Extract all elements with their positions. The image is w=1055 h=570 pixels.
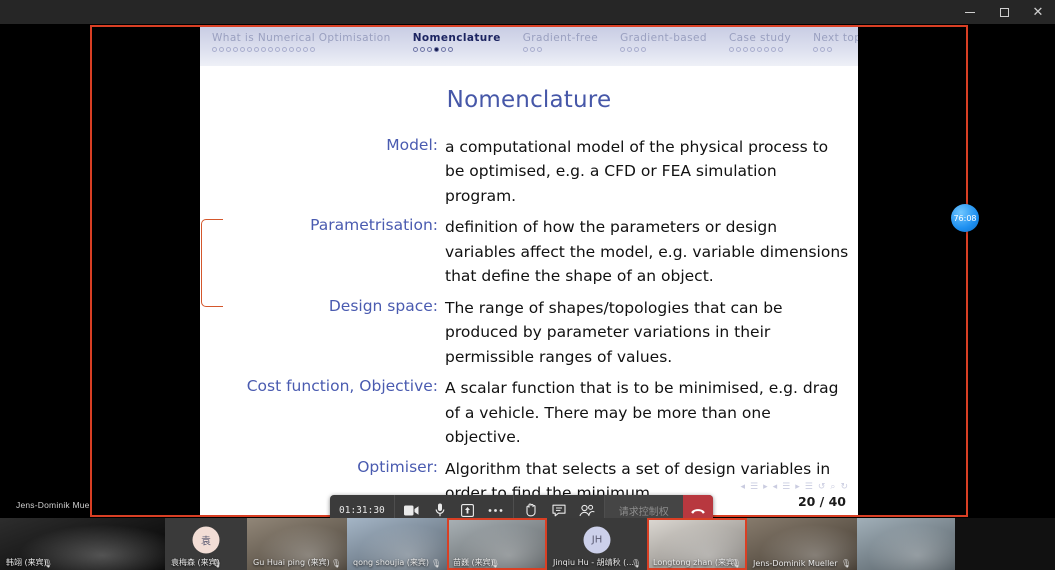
definition-body: The range of shapes/topologies that can …: [445, 296, 850, 369]
participants-button[interactable]: [573, 504, 601, 517]
slide-nav-dot[interactable]: [282, 47, 287, 52]
slide-nav-dot[interactable]: [261, 47, 266, 52]
slide-nav-dot[interactable]: [434, 47, 439, 52]
microphone-muted-icon: 🎙: [631, 559, 641, 568]
definition-term: Parametrisation:: [310, 215, 438, 288]
slide-nav-label: Gradient-based: [620, 32, 707, 44]
participant-tile[interactable]: 苗巍 (来宾)🎙: [447, 518, 547, 570]
slide-nav-dots: [729, 47, 783, 52]
slide-nav-dot[interactable]: [219, 47, 224, 52]
slide-nav-dot[interactable]: [736, 47, 741, 52]
beamer-nav-glyph[interactable]: ⌕: [830, 482, 835, 492]
slide-nav-dot[interactable]: [289, 47, 294, 52]
slide-nav-dot[interactable]: [240, 47, 245, 52]
participant-filmstrip: 韩翊 (来宾)🎙袁袁梅森 (来宾)🎙Gu Huai ping (来宾)🎙qong…: [0, 518, 1055, 570]
slide-nav-dot[interactable]: [523, 47, 528, 52]
participant-name: qong shoujia (来宾): [353, 557, 429, 568]
microphone-icon: [435, 503, 445, 517]
slide-nav-dot[interactable]: [254, 47, 259, 52]
meeting-window: ✕ Jens-Dominik Mueller What is Numerical…: [0, 0, 1055, 570]
slide-nav-section[interactable]: Next topic: [813, 32, 858, 52]
avatar: 袁: [193, 526, 220, 553]
more-options-button[interactable]: [482, 508, 510, 513]
chat-icon: [552, 504, 566, 517]
slide-nav-label: What is Numerical Optimisation: [212, 32, 391, 44]
slide-nav-dot[interactable]: [757, 47, 762, 52]
participant-name: Longtong zhan (来宾): [653, 557, 737, 568]
presentation-slide: What is Numerical OptimisationNomenclatu…: [200, 27, 858, 515]
slide-nav-dots: [212, 47, 315, 52]
slide-nav-dot[interactable]: [296, 47, 301, 52]
beamer-nav-glyph[interactable]: ↺: [818, 482, 826, 492]
shared-screen-stage: Jens-Dominik Mueller What is Numerical O…: [0, 24, 1055, 518]
slide-nav-label: Next topic: [813, 32, 858, 44]
definition-term-column: Cost function, Objective:: [210, 376, 438, 449]
screen-share-border: What is Numerical OptimisationNomenclatu…: [90, 25, 968, 517]
participant-name: Jinqiu Hu - 胡靖秋 (...: [553, 557, 634, 568]
share-screen-icon: [461, 504, 474, 517]
chat-button[interactable]: [545, 504, 573, 517]
slide-section-nav: What is Numerical OptimisationNomenclatu…: [200, 32, 858, 52]
participant-name: Jens-Dominik Mueller: [753, 559, 838, 568]
microphone-muted-icon: 🎙: [212, 559, 222, 568]
beamer-nav-glyph[interactable]: ▸: [763, 482, 768, 492]
slide-nav-dot[interactable]: [743, 47, 748, 52]
close-button[interactable]: ✕: [1021, 0, 1055, 24]
presenter-watermark: Jens-Dominik Mueller: [16, 500, 102, 510]
participant-tile[interactable]: Gu Huai ping (来宾)🎙: [247, 518, 347, 570]
beamer-navigation-icons[interactable]: ◂☰▸◂☰▸☰↺⌕↻: [741, 482, 849, 492]
definition-list: Model:a computational model of the physi…: [200, 135, 858, 506]
slide-nav-dot[interactable]: [813, 47, 818, 52]
floating-timer-badge[interactable]: 76:08: [951, 204, 979, 232]
maximize-button[interactable]: [987, 0, 1021, 24]
slide-nav-dots: [413, 47, 453, 52]
slide-nav-dot[interactable]: [233, 47, 238, 52]
slide-nav-dot[interactable]: [641, 47, 646, 52]
slide-nav-dot[interactable]: [530, 47, 535, 52]
beamer-nav-glyph[interactable]: ↻: [840, 482, 848, 492]
participant-tile[interactable]: [857, 518, 955, 570]
beamer-nav-glyph[interactable]: ▸: [795, 482, 800, 492]
slide-nav-dot[interactable]: [448, 47, 453, 52]
hand-icon: [525, 503, 537, 517]
definition-body: definition of how the parameters or desi…: [445, 215, 850, 288]
slide-nav-section[interactable]: Nomenclature: [413, 32, 501, 52]
participants-icon: [579, 504, 595, 517]
slide-nav-dots: [813, 47, 832, 52]
microphone-muted-icon: 🎙: [331, 559, 341, 568]
page-indicator: 20 / 40: [798, 494, 846, 509]
camera-icon: [404, 505, 419, 516]
ellipsis-icon: [488, 508, 503, 513]
slide-nav-dot[interactable]: [537, 47, 542, 52]
microphone-muted-icon: 🎙: [42, 559, 52, 568]
slide-nav-dot[interactable]: [620, 47, 625, 52]
slide-navbar: What is Numerical OptimisationNomenclatu…: [200, 27, 858, 67]
slide-title: Nomenclature: [200, 87, 858, 113]
participant-name: Gu Huai ping (来宾): [253, 557, 330, 568]
participant-tile[interactable]: Jens-Dominik Mueller🎙: [747, 518, 857, 570]
slide-nav-dot[interactable]: [420, 47, 425, 52]
beamer-nav-glyph[interactable]: ☰: [750, 482, 758, 492]
definition-term: Cost function, Objective:: [247, 376, 438, 449]
participant-name: 苗巍 (来宾): [453, 557, 494, 568]
microphone-muted-icon: 🎙: [489, 559, 499, 568]
participant-tile[interactable]: qong shoujia (来宾)🎙: [347, 518, 447, 570]
close-icon: ✕: [1033, 6, 1044, 19]
microphone-muted-icon: 🎙: [731, 559, 741, 568]
microphone-muted-icon: 🎙: [841, 559, 851, 568]
slide-nav-dot[interactable]: [226, 47, 231, 52]
participant-tile[interactable]: JHJinqiu Hu - 胡靖秋 (...🎙: [547, 518, 647, 570]
slide-nav-section[interactable]: Case study: [729, 32, 791, 52]
raise-hand-button[interactable]: [517, 503, 545, 517]
definition-term: Model:: [386, 135, 438, 208]
maximize-icon: [1000, 8, 1009, 17]
definition-term: Design space:: [329, 296, 438, 369]
participant-tile[interactable]: 韩翊 (来宾)🎙: [0, 518, 165, 570]
slide-nav-dot[interactable]: [427, 47, 432, 52]
slide-nav-label: Nomenclature: [413, 32, 501, 44]
slide-nav-dot[interactable]: [778, 47, 783, 52]
minimize-button[interactable]: [953, 0, 987, 24]
slide-nav-dot[interactable]: [413, 47, 418, 52]
window-titlebar: ✕: [0, 0, 1055, 24]
beamer-nav-glyph[interactable]: ☰: [782, 482, 790, 492]
slide-nav-dot[interactable]: [750, 47, 755, 52]
beamer-nav-glyph[interactable]: ☰: [805, 482, 813, 492]
slide-nav-dot[interactable]: [771, 47, 776, 52]
microphone-muted-icon: 🎙: [431, 559, 441, 568]
participant-name: 韩翊 (来宾): [6, 557, 47, 568]
annotation-bracket-icon: [201, 219, 223, 307]
camera-button[interactable]: [398, 505, 426, 516]
definition-row: Parametrisation:definition of how the pa…: [210, 215, 850, 288]
definition-term-column: Design space:: [210, 296, 438, 369]
slide-nav-dots: [523, 47, 542, 52]
definition-body: A scalar function that is to be minimise…: [445, 376, 850, 449]
slide-nav-dot[interactable]: [627, 47, 632, 52]
slide-nav-dot[interactable]: [634, 47, 639, 52]
slide-nav-label: Case study: [729, 32, 791, 44]
definition-row: Design space:The range of shapes/topolog…: [210, 296, 850, 369]
definition-term-column: Model:: [210, 135, 438, 208]
definition-row: Model:a computational model of the physi…: [210, 135, 850, 208]
slide-nav-label: Gradient-free: [523, 32, 598, 44]
microphone-button[interactable]: [426, 503, 454, 517]
slide-nav-dot[interactable]: [827, 47, 832, 52]
slide-nav-section[interactable]: Gradient-based: [620, 32, 707, 52]
slide-nav-dot[interactable]: [275, 47, 280, 52]
minimize-icon: [965, 12, 975, 13]
slide-nav-dot[interactable]: [820, 47, 825, 52]
slide-nav-dot[interactable]: [247, 47, 252, 52]
share-screen-button[interactable]: [454, 504, 482, 517]
participant-tile[interactable]: Longtong zhan (来宾)🎙: [647, 518, 747, 570]
slide-nav-dot[interactable]: [303, 47, 308, 52]
slide-nav-dot[interactable]: [268, 47, 273, 52]
slide-nav-section[interactable]: What is Numerical Optimisation: [212, 32, 391, 52]
slide-nav-dot[interactable]: [729, 47, 734, 52]
definition-body: a computational model of the physical pr…: [445, 135, 850, 208]
slide-nav-dot[interactable]: [764, 47, 769, 52]
definition-term-column: Parametrisation:: [210, 215, 438, 288]
participant-tile[interactable]: 袁袁梅森 (来宾)🎙: [165, 518, 247, 570]
slide-nav-dots: [620, 47, 646, 52]
slide-nav-section[interactable]: Gradient-free: [523, 32, 598, 52]
slide-nav-dot[interactable]: [310, 47, 315, 52]
slide-nav-dot[interactable]: [441, 47, 446, 52]
slide-nav-dot[interactable]: [212, 47, 217, 52]
definition-row: Cost function, Objective:A scalar functi…: [210, 376, 850, 449]
avatar: JH: [584, 526, 611, 553]
beamer-nav-glyph[interactable]: ◂: [773, 482, 778, 492]
beamer-nav-glyph[interactable]: ◂: [741, 482, 746, 492]
hangup-icon: [690, 506, 706, 515]
